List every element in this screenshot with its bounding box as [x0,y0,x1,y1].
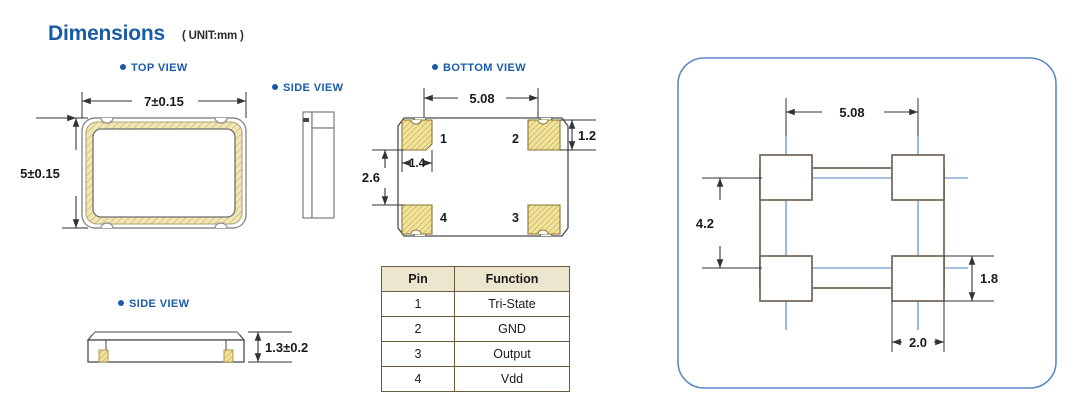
table-header-row: Pin Function [382,267,570,292]
solder-pad-layout-panel: Solder pad layout ( UNIT:mm ) 5.08 [650,0,1080,420]
bottom-view-pad-spacing-dim: 2.6 [362,170,380,185]
pin-function-table: Pin Function 1 Tri-State 2 GND 3 Output … [381,266,570,392]
table-cell-function: Vdd [455,367,570,392]
table-row: 3 Output [382,342,570,367]
bottom-view-pad-height-dim: 1.2 [578,128,596,143]
table-row: 1 Tri-State [382,292,570,317]
side-view-thickness-dim: 1.3±0.2 [265,340,308,355]
table-header-function: Function [455,267,570,292]
table-cell-pin: 1 [382,292,455,317]
solder-pad-width-dim: 2.0 [909,335,927,350]
solder-pad-bottom-left [760,256,812,301]
side-view-bottom-drawing: 1.3±0.2 [88,332,308,362]
solder-pad-drawing: 5.08 4.2 1.8 2.0 [650,0,1080,420]
table-cell-function: Tri-State [455,292,570,317]
table-row: 4 Vdd [382,367,570,392]
solder-vertical-span-dim: 4.2 [696,216,714,231]
pin-number-1: 1 [440,132,447,146]
solder-pad-height-dim: 1.8 [980,271,998,286]
table-cell-function: Output [455,342,570,367]
pin-number-2: 2 [512,132,519,146]
solder-pitch-dim: 5.08 [839,105,864,120]
pin-number-4: 4 [440,211,447,225]
bottom-view-drawing: 5.08 1 2 3 4 [362,88,596,236]
table-cell-pin: 2 [382,317,455,342]
pin-number-3: 3 [512,211,519,225]
solder-pad-top-left [760,155,812,200]
table-cell-pin: 4 [382,367,455,392]
solder-pad-top-right [892,155,944,200]
table-cell-function: GND [455,317,570,342]
table-cell-pin: 3 [382,342,455,367]
bottom-view-pad-width-dim: 1.4 [409,158,426,170]
top-view-width-dim: 7±0.15 [144,94,184,109]
solder-pad-bottom-right [892,256,944,301]
top-view-height-dim: 5±0.15 [20,166,60,181]
dimensions-panel: Dimensions ( UNIT:mm ) TOP VIEW SIDE VIE… [0,0,650,420]
side-view-right-drawing [303,112,334,218]
table-row: 2 GND [382,317,570,342]
table-header-pin: Pin [382,267,455,292]
bottom-view-pitch-dim: 5.08 [469,91,494,106]
